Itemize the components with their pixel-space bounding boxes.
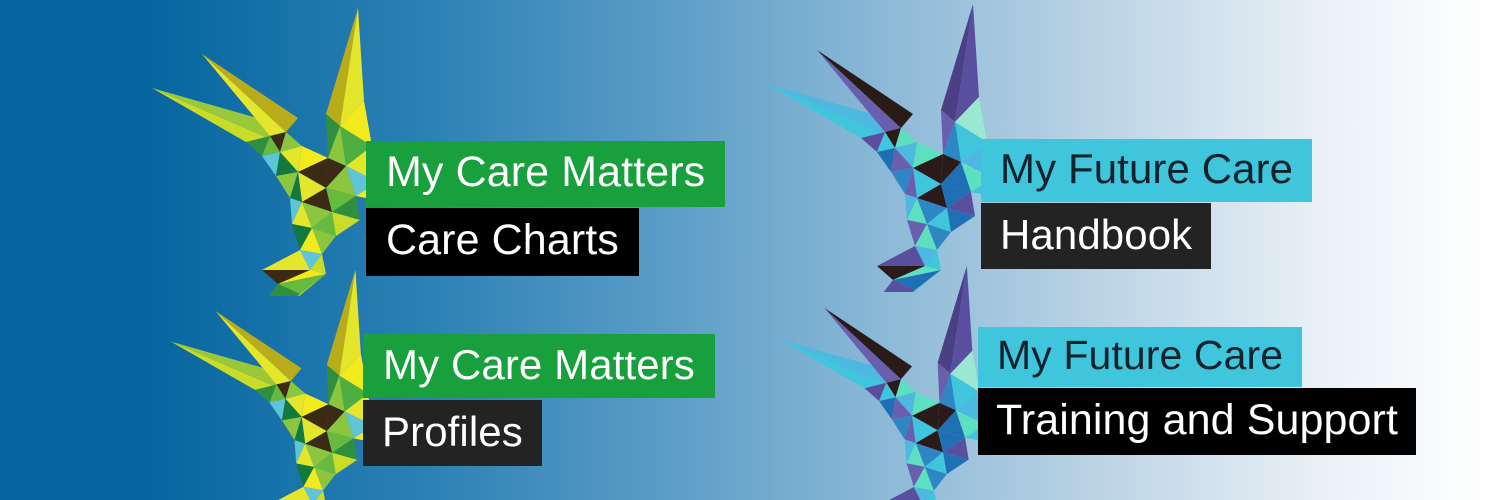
sub-label[interactable]: Profiles — [363, 400, 542, 466]
brand-label[interactable]: My Future Care — [978, 327, 1302, 387]
sub-label[interactable]: Training and Support — [978, 388, 1416, 455]
banner-image: My Care Matters Care Charts — [0, 0, 1500, 500]
label-stack: My Care Matters Profiles — [363, 334, 715, 466]
logo-group-training[interactable]: My Future Care Training and Support — [760, 188, 1420, 498]
logo-group-profiles[interactable]: My Care Matters Profiles — [150, 190, 770, 490]
label-stack: My Future Care Training and Support — [978, 327, 1416, 455]
brand-label[interactable]: My Care Matters — [363, 334, 715, 398]
